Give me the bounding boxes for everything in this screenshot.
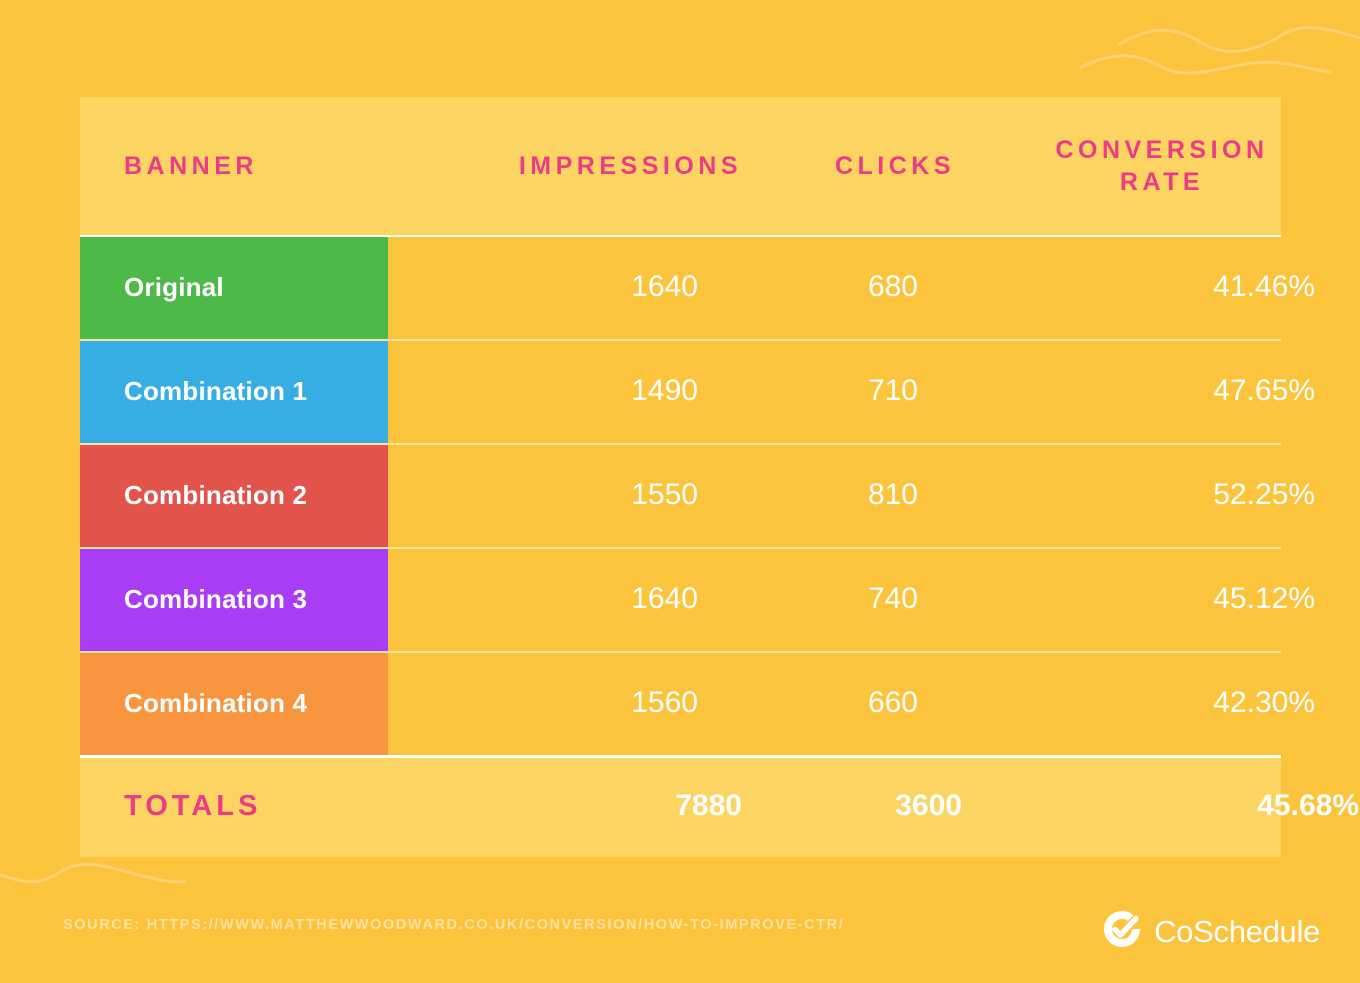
table-body: Original 1640 680 41.46% Combination 1 1…	[80, 235, 1281, 755]
decorative-wave-top-right	[1080, 18, 1360, 83]
totals-clicks: 3600	[749, 789, 989, 823]
banner-label: Combination 1	[80, 376, 307, 407]
table-row: Combination 2 1550 810 52.25%	[80, 443, 1281, 547]
cell-impressions: 1550	[388, 478, 705, 512]
cell-conversion-rate: 52.25%	[945, 478, 1360, 512]
banner-label: Combination 2	[80, 480, 307, 511]
conversion-rate-line-2: Rate	[1120, 168, 1204, 196]
brand-name: CoSchedule	[1154, 914, 1320, 950]
table-row: Original 1640 680 41.46%	[80, 235, 1281, 339]
footer: Source: https://www.matthewwoodward.co.u…	[0, 909, 1360, 953]
banner-swatch: Combination 1	[80, 339, 388, 443]
cell-conversion-rate: 42.30%	[945, 686, 1360, 720]
comparison-table: Banner Impressions Clicks Conversion Rat…	[80, 97, 1281, 857]
banner-label: Original	[80, 272, 224, 303]
cell-clicks: 740	[705, 582, 945, 616]
totals-impressions: 7880	[432, 789, 749, 823]
banner-swatch: Combination 3	[80, 547, 388, 651]
banner-swatch: Combination 2	[80, 443, 388, 547]
totals-divider	[80, 755, 1281, 758]
table-row: Combination 1 1490 710 47.65%	[80, 339, 1281, 443]
cell-impressions: 1490	[388, 374, 705, 408]
decorative-wave-bottom-left	[0, 860, 200, 905]
cell-conversion-rate: 41.46%	[945, 270, 1360, 304]
coschedule-check-icon	[1102, 909, 1142, 954]
table-totals-row: Totals 7880 3600 45.68%	[80, 755, 1281, 857]
cell-impressions: 1640	[388, 270, 705, 304]
column-header-conversion-rate: Conversion Rate	[977, 134, 1360, 198]
row-divider	[80, 339, 1281, 341]
cell-conversion-rate: 45.12%	[945, 582, 1360, 616]
table-row: Combination 3 1640 740 45.12%	[80, 547, 1281, 651]
cell-conversion-rate: 47.65%	[945, 374, 1360, 408]
cell-impressions: 1560	[388, 686, 705, 720]
column-header-clicks: Clicks	[742, 150, 977, 182]
source-attribution: Source: https://www.matthewwoodward.co.u…	[63, 917, 844, 933]
banner-swatch: Combination 4	[80, 651, 388, 755]
table-header: Banner Impressions Clicks Conversion Rat…	[80, 97, 1281, 235]
conversion-rate-line-1: Conversion	[1055, 136, 1268, 164]
table-row: Combination 4 1560 660 42.30%	[80, 651, 1281, 755]
cell-clicks: 710	[705, 374, 945, 408]
banner-label: Combination 4	[80, 688, 307, 719]
row-divider	[80, 443, 1281, 445]
totals-conversion-rate: 45.68%	[989, 789, 1360, 823]
cell-impressions: 1640	[388, 582, 705, 616]
column-header-impressions: Impressions	[432, 150, 742, 182]
banner-swatch: Original	[80, 235, 388, 339]
brand-logo: CoSchedule	[1102, 909, 1320, 954]
cell-clicks: 680	[705, 270, 945, 304]
row-divider	[80, 547, 1281, 549]
column-header-banner: Banner	[80, 150, 432, 182]
totals-label: Totals	[80, 790, 432, 823]
row-divider	[80, 235, 1281, 237]
cell-clicks: 660	[705, 686, 945, 720]
banner-label: Combination 3	[80, 584, 307, 615]
cell-clicks: 810	[705, 478, 945, 512]
row-divider	[80, 651, 1281, 653]
